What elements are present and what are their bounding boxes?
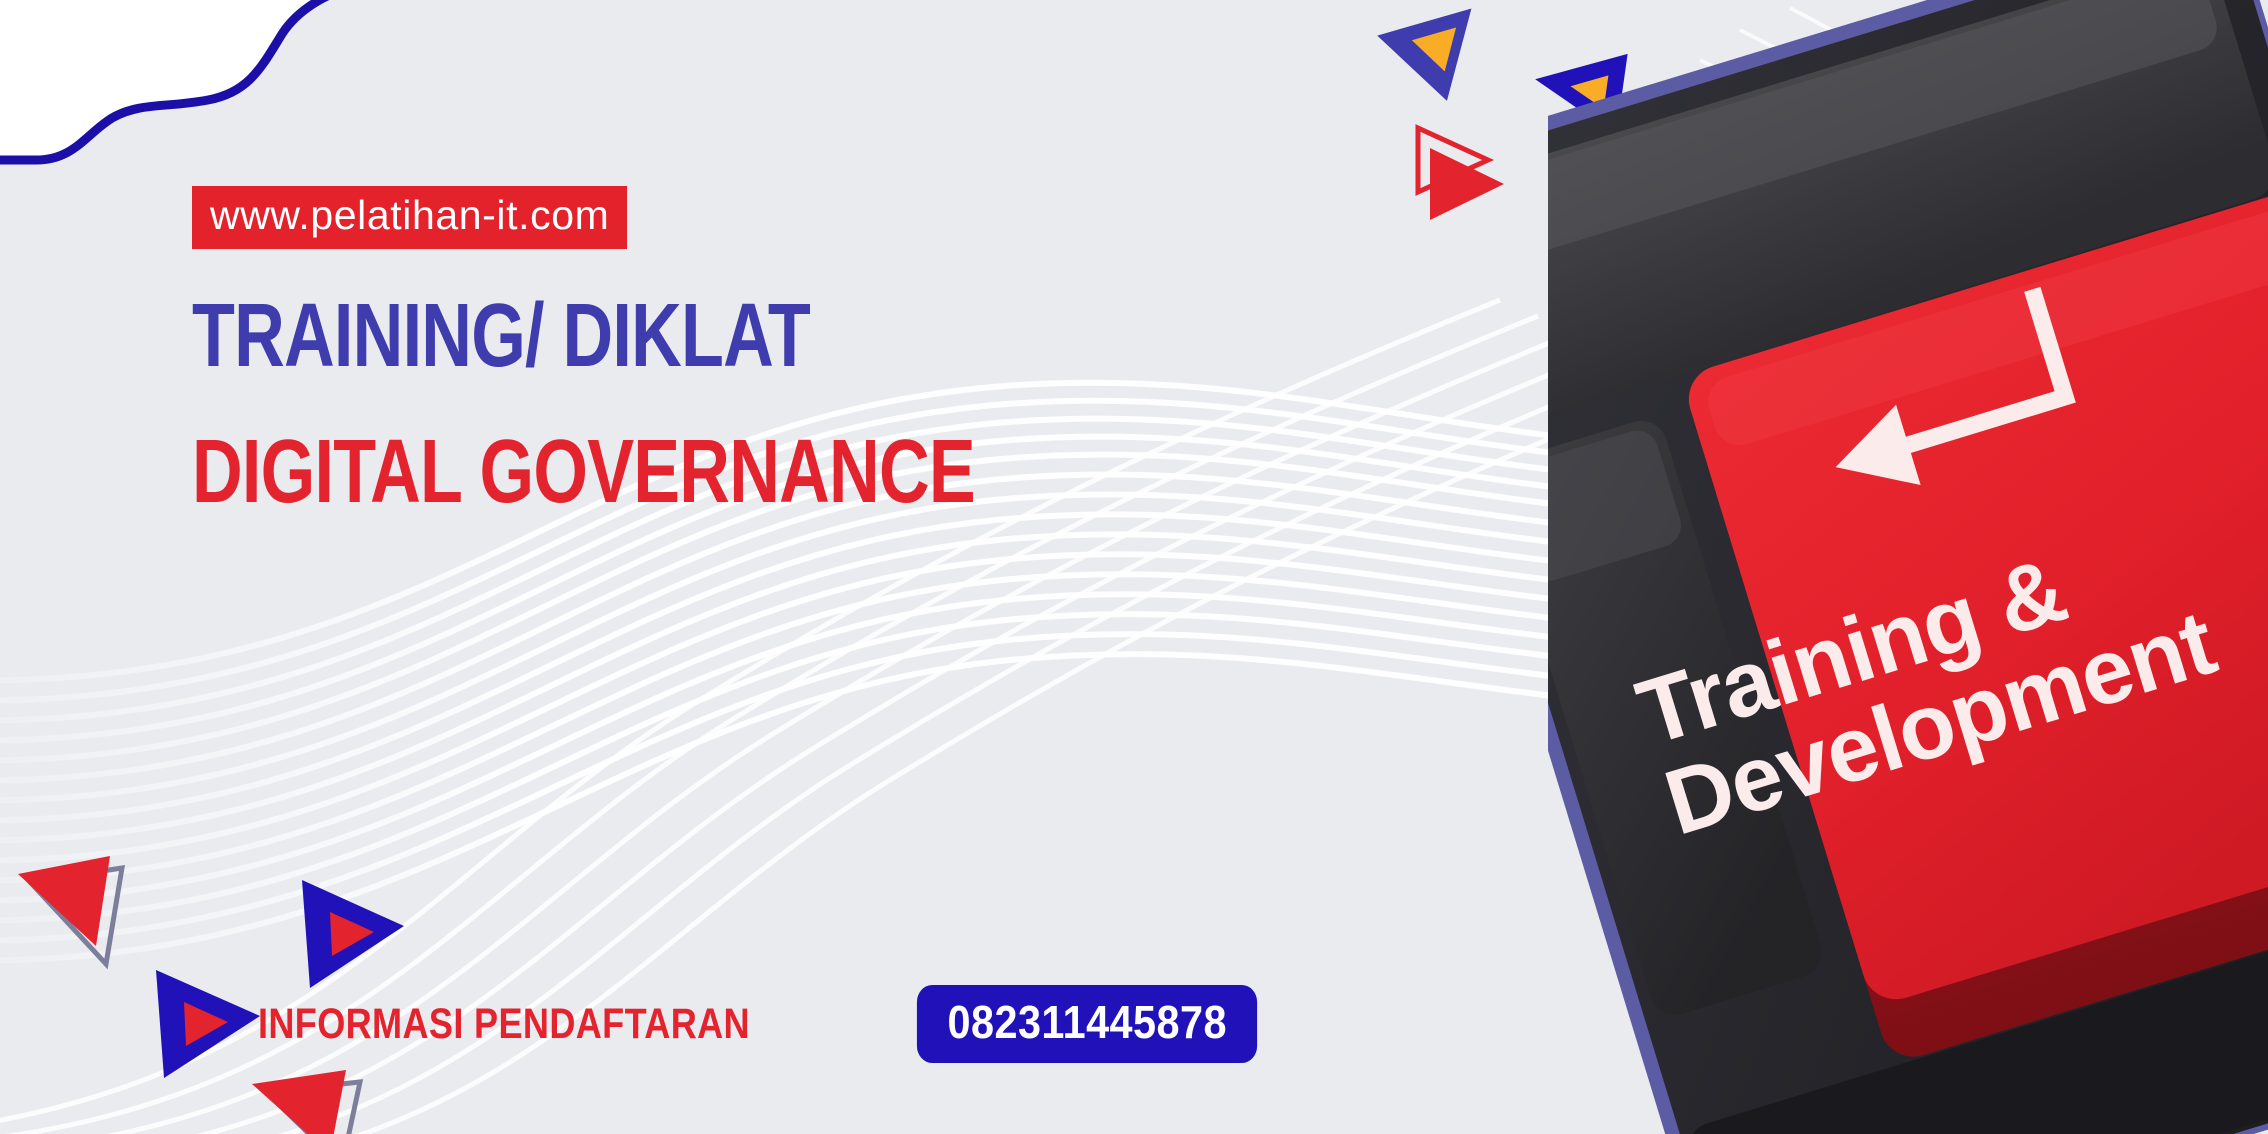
headline-block: TRAINING/ DIKLAT DIGITAL GOVERNANCE — [192, 291, 1342, 517]
promo-banner: www.pelatihan-it.com TRAINING/ DIKLAT DI… — [0, 0, 2268, 1134]
headline-line-secondary: DIGITAL GOVERNANCE — [192, 427, 1089, 517]
phone-number-badge[interactable]: 082311445878 — [917, 985, 1258, 1063]
banner-background — [0, 0, 2268, 1134]
headline-line-primary: TRAINING/ DIKLAT — [192, 291, 1089, 381]
banner-content: www.pelatihan-it.com TRAINING/ DIKLAT DI… — [192, 186, 1342, 517]
website-url-chip[interactable]: www.pelatihan-it.com — [192, 186, 627, 249]
contact-bar: INFORMASI PENDAFTARAN 082311445878 — [258, 985, 1276, 1063]
registration-info-label: INFORMASI PENDAFTARAN — [258, 1000, 750, 1049]
